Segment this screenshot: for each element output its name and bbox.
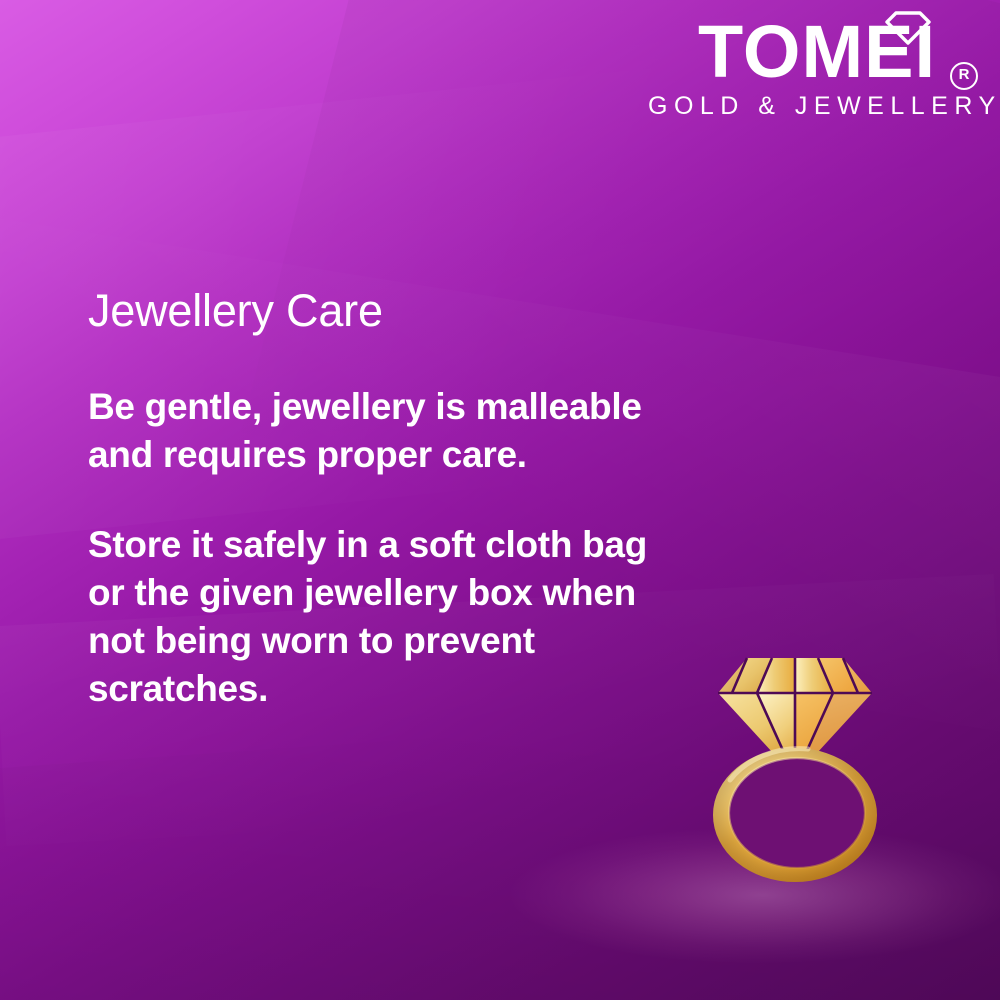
poster-canvas: TOMEI R GOLD & JEWELLERY Jewellery Care …: [0, 0, 1000, 1000]
registered-trademark-icon: R: [950, 62, 978, 90]
page-title: Jewellery Care: [88, 288, 668, 333]
care-paragraph-1: Be gentle, jewellery is malleable and re…: [88, 383, 668, 479]
brand-tagline: GOLD & JEWELLERY: [648, 92, 978, 121]
brand-wordmark-row: TOMEI R: [648, 8, 978, 96]
ring-band-icon: [713, 748, 877, 882]
diamond-outline-icon: [882, 10, 934, 46]
diamond-ring-illustration: [700, 645, 890, 895]
brand-logo: TOMEI R GOLD & JEWELLERY: [648, 8, 978, 121]
copy-block: Jewellery Care Be gentle, jewellery is m…: [88, 288, 668, 713]
care-paragraph-2: Store it safely in a soft cloth bag or t…: [88, 521, 668, 713]
